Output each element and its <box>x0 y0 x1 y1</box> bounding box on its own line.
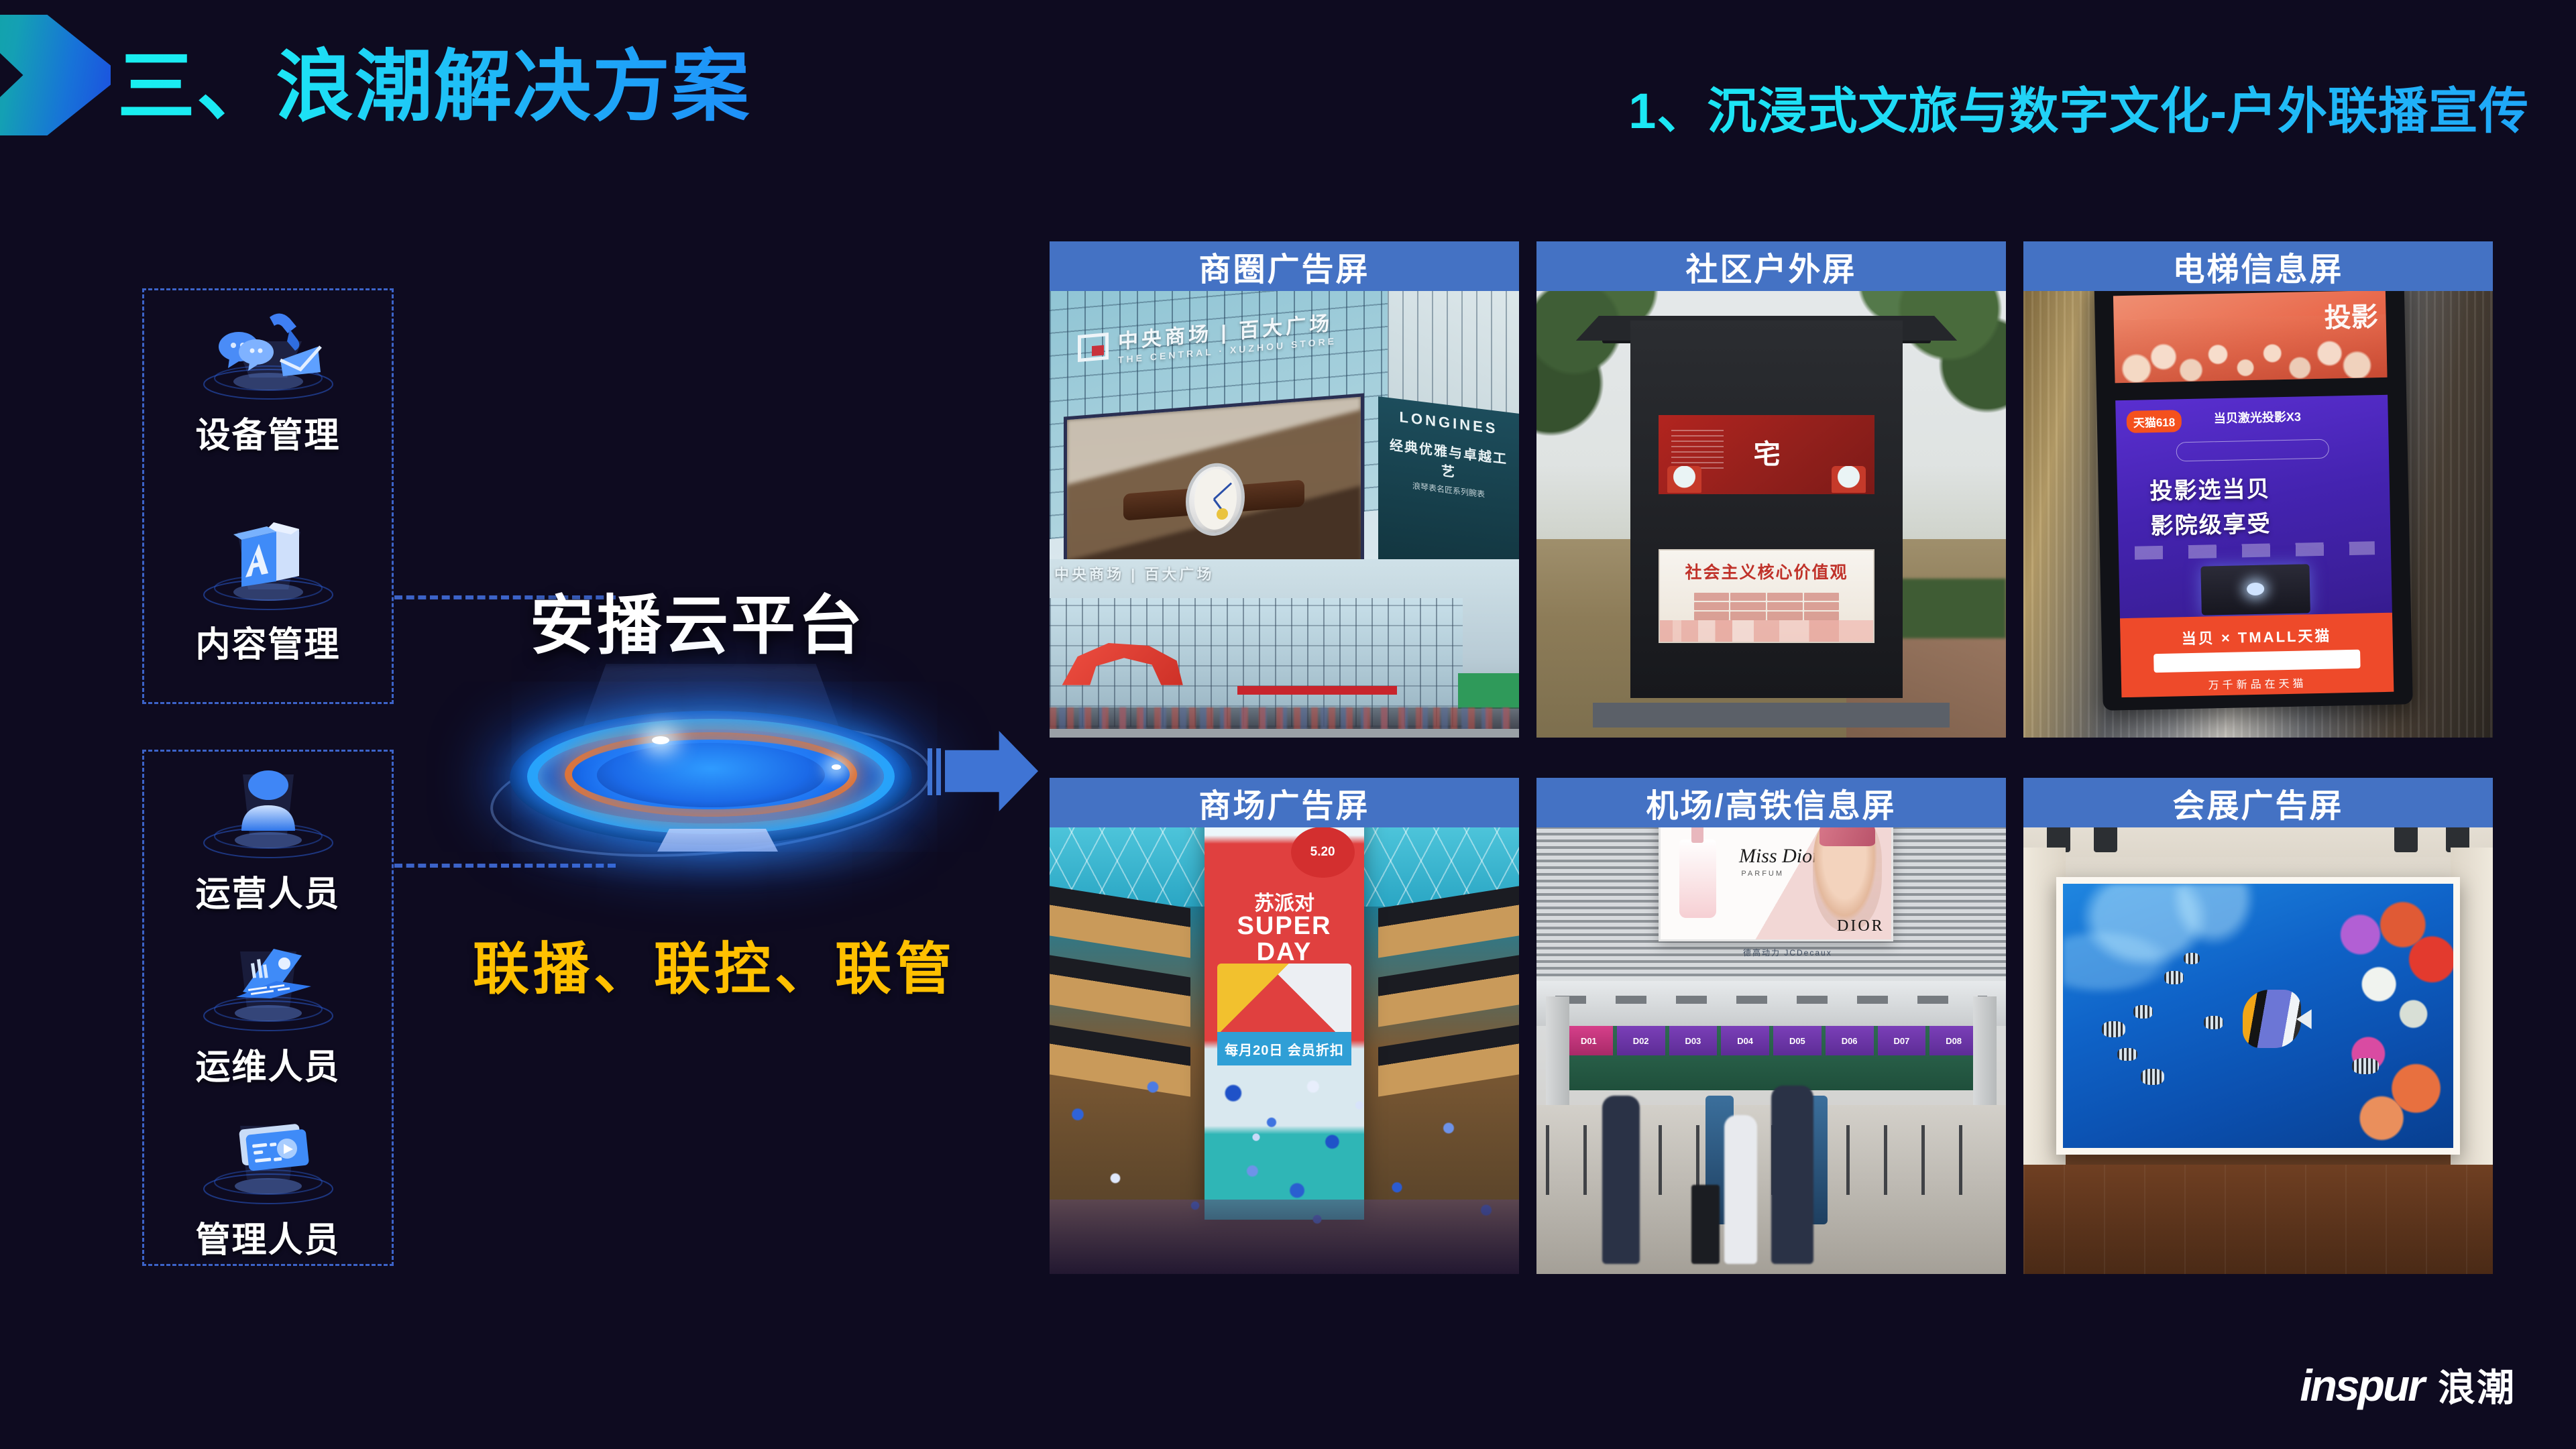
photo-elevator-display: 投影 天猫618 当贝激光投影X3 投影选当贝 影院级享受 当贝 × TMALL… <box>2023 241 2493 738</box>
exhibition-screen <box>2063 884 2453 1148</box>
page-subtitle: 1、沉浸式文旅与数字文化-户外联播宣传 <box>1628 71 2529 143</box>
role-label: 运营人员 <box>144 866 392 916</box>
kiosk-led-screen: 宅 <box>1659 415 1874 494</box>
cloud-platform-disc-graphic <box>469 671 952 892</box>
management-group-box: 设备管理 内容管理 <box>142 288 394 704</box>
checkin-counter-signs: D01D02D03D04 D05D06D07D08 <box>1565 1026 1978 1055</box>
screen-cell-elevator-info[interactable]: 投影 天猫618 当贝激光投影X3 投影选当贝 影院级享受 当贝 × TMALL… <box>2023 241 2493 738</box>
role-item-content-management[interactable]: 内容管理 <box>144 512 392 666</box>
person-icon <box>144 761 392 862</box>
screen-cell-community-outdoor[interactable]: 宅 社会主义核心价值观 社区户外屏 <box>1536 241 2006 738</box>
people-group-box: 运营人员 <box>142 750 394 1266</box>
logo-text-cn: 浪潮 <box>2438 1358 2516 1412</box>
logo-text-en: inspur <box>2300 1360 2423 1411</box>
screen-cell-business-district[interactable]: 中央商场 | 百大广场 THE CENTRAL · XUZHOU STORE L… <box>1050 241 1519 738</box>
role-item-maintenance-staff[interactable]: 运维人员 <box>144 934 392 1089</box>
screen-cell-mall-advertising[interactable]: 5.20 苏派对 SUPER DAY 每月20日 会员折扣 商场广告屏 <box>1050 778 1519 1274</box>
flow-arrow-icon <box>928 731 1038 811</box>
photo-exhibition-led-wall <box>2023 778 2493 1274</box>
page-title: 三、浪潮解决方案 <box>117 23 750 136</box>
laptop-icon <box>144 934 392 1035</box>
role-label: 运维人员 <box>144 1039 392 1089</box>
role-label: 管理人员 <box>144 1212 392 1262</box>
screen-type-grid: 中央商场 | 百大广场 THE CENTRAL · XUZHOU STORE L… <box>1050 241 2512 1274</box>
screen-caption: 机场/高铁信息屏 <box>1536 778 2006 827</box>
photo-airport-terminal: Miss Dior PARFUM DIOR 德高动力 JCDecaux D01D… <box>1536 778 2006 1274</box>
tagline: 联播、联控、联管 <box>473 924 956 1005</box>
role-label: 内容管理 <box>144 616 392 666</box>
screen-caption: 商圈广告屏 <box>1050 241 1519 291</box>
chat-phone-mail-icon <box>144 302 392 403</box>
screen-caption: 会展广告屏 <box>2023 778 2493 827</box>
screen-cell-airport-rail-info[interactable]: Miss Dior PARFUM DIOR 德高动力 JCDecaux D01D… <box>1536 778 2006 1274</box>
media-owner-label: 德高动力 JCDecaux <box>1743 947 1832 958</box>
role-label: 设备管理 <box>144 407 392 457</box>
elevator-footer-bar: 当贝 × TMALL天猫 万千新品在天猫 <box>2120 614 2394 698</box>
role-item-operations-staff[interactable]: 运营人员 <box>144 761 392 916</box>
kiosk-poster: 社会主义核心价值观 <box>1659 549 1874 644</box>
slide-root: 三、浪潮解决方案 1、沉浸式文旅与数字文化-户外联播宣传 <box>0 0 2576 1449</box>
screen-caption: 电梯信息屏 <box>2023 241 2493 291</box>
screen-caption: 商场广告屏 <box>1050 778 1519 827</box>
photo-community-kiosk: 宅 社会主义核心价值观 <box>1536 241 2006 738</box>
chevron-decoration-icon <box>0 15 111 135</box>
screen-caption: 社区户外屏 <box>1536 241 2006 291</box>
platform-title: 安播云平台 <box>530 573 865 666</box>
media-card-icon <box>144 1107 392 1208</box>
role-item-admin-staff[interactable]: 管理人员 <box>144 1107 392 1262</box>
facade-sign-lower: 中央商场 | 百大广场 <box>1054 563 1214 584</box>
role-item-device-management[interactable]: 设备管理 <box>144 302 392 457</box>
screen-cell-exhibition-advertising[interactable]: 会展广告屏 <box>2023 778 2493 1274</box>
elevator-top-banner: 投影 <box>2113 290 2388 384</box>
company-logo: inspur 浪潮 <box>2300 1358 2516 1412</box>
brand-panel: LONGINES 经典优雅与卓越工艺 浪琴表名匠系列腕表 <box>1378 396 1519 582</box>
letter-a-icon <box>144 512 392 612</box>
photo-mall-facade: 中央商场 | 百大广场 THE CENTRAL · XUZHOU STORE L… <box>1050 241 1519 738</box>
photo-mall-atrium: 5.20 苏派对 SUPER DAY 每月20日 会员折扣 <box>1050 778 1519 1274</box>
